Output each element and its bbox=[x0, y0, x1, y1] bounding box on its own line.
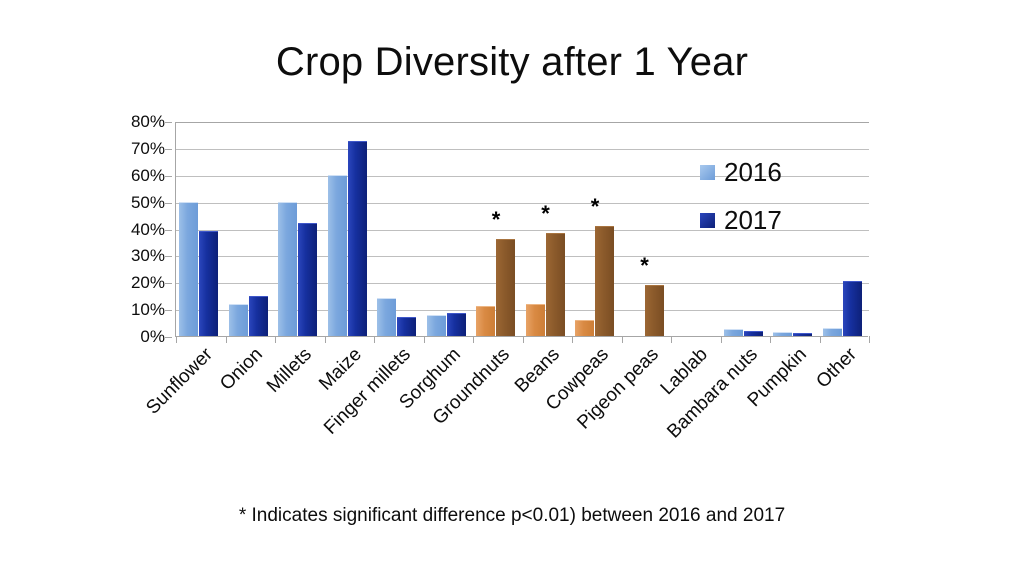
legend-item-2016[interactable]: 2016 bbox=[700, 148, 830, 196]
bar-2017[interactable] bbox=[199, 231, 218, 336]
y-tick-mark bbox=[165, 283, 172, 284]
y-tick-label: 40% bbox=[105, 220, 165, 240]
y-tick-mark bbox=[165, 203, 172, 204]
y-tick-mark bbox=[165, 337, 172, 338]
y-axis: 0%10%20%30%40%50%60%70%80% bbox=[103, 122, 165, 337]
bar-group[interactable] bbox=[325, 121, 375, 336]
bar-group[interactable]: * bbox=[572, 121, 622, 336]
bar-2017[interactable] bbox=[298, 223, 317, 336]
legend-label-2017: 2017 bbox=[724, 207, 782, 233]
y-tick-mark bbox=[165, 256, 172, 257]
bar-2016[interactable] bbox=[179, 202, 198, 336]
significance-asterisk: * bbox=[622, 255, 668, 277]
y-tick-label: 50% bbox=[105, 193, 165, 213]
y-tick-label: 0% bbox=[105, 327, 165, 347]
y-tick-mark bbox=[165, 149, 172, 150]
bar-2017[interactable] bbox=[348, 141, 367, 336]
bar-group[interactable] bbox=[176, 121, 226, 336]
chart-container: Crop Diversity after 1 Year 0%10%20%30%4… bbox=[0, 0, 1024, 576]
significance-asterisk: * bbox=[572, 196, 618, 218]
y-tick-label: 20% bbox=[105, 273, 165, 293]
legend-label-2016: 2016 bbox=[724, 159, 782, 185]
y-tick-label: 80% bbox=[105, 112, 165, 132]
y-tick-label: 30% bbox=[105, 246, 165, 266]
y-tick-label: 60% bbox=[105, 166, 165, 186]
y-tick-label: 10% bbox=[105, 300, 165, 320]
y-tick-mark bbox=[165, 122, 172, 123]
chart-legend: 2016 2017 bbox=[700, 148, 830, 244]
bar-group[interactable] bbox=[374, 121, 424, 336]
x-axis-labels: SunflowerOnionMilletsMaizeFinger millets… bbox=[175, 340, 868, 470]
legend-swatch-2016-icon bbox=[700, 165, 715, 180]
y-tick-label: 70% bbox=[105, 139, 165, 159]
bar-group[interactable] bbox=[275, 121, 325, 336]
y-tick-mark bbox=[165, 310, 172, 311]
significance-asterisk: * bbox=[523, 203, 569, 225]
legend-item-2017[interactable]: 2017 bbox=[700, 196, 830, 244]
chart-title: Crop Diversity after 1 Year bbox=[0, 40, 1024, 85]
y-tick-mark bbox=[165, 176, 172, 177]
y-tick-mark bbox=[165, 230, 172, 231]
significance-asterisk: * bbox=[473, 209, 519, 231]
legend-swatch-2017-icon bbox=[700, 213, 715, 228]
chart-footnote: * Indicates significant difference p<0.0… bbox=[0, 505, 1024, 527]
